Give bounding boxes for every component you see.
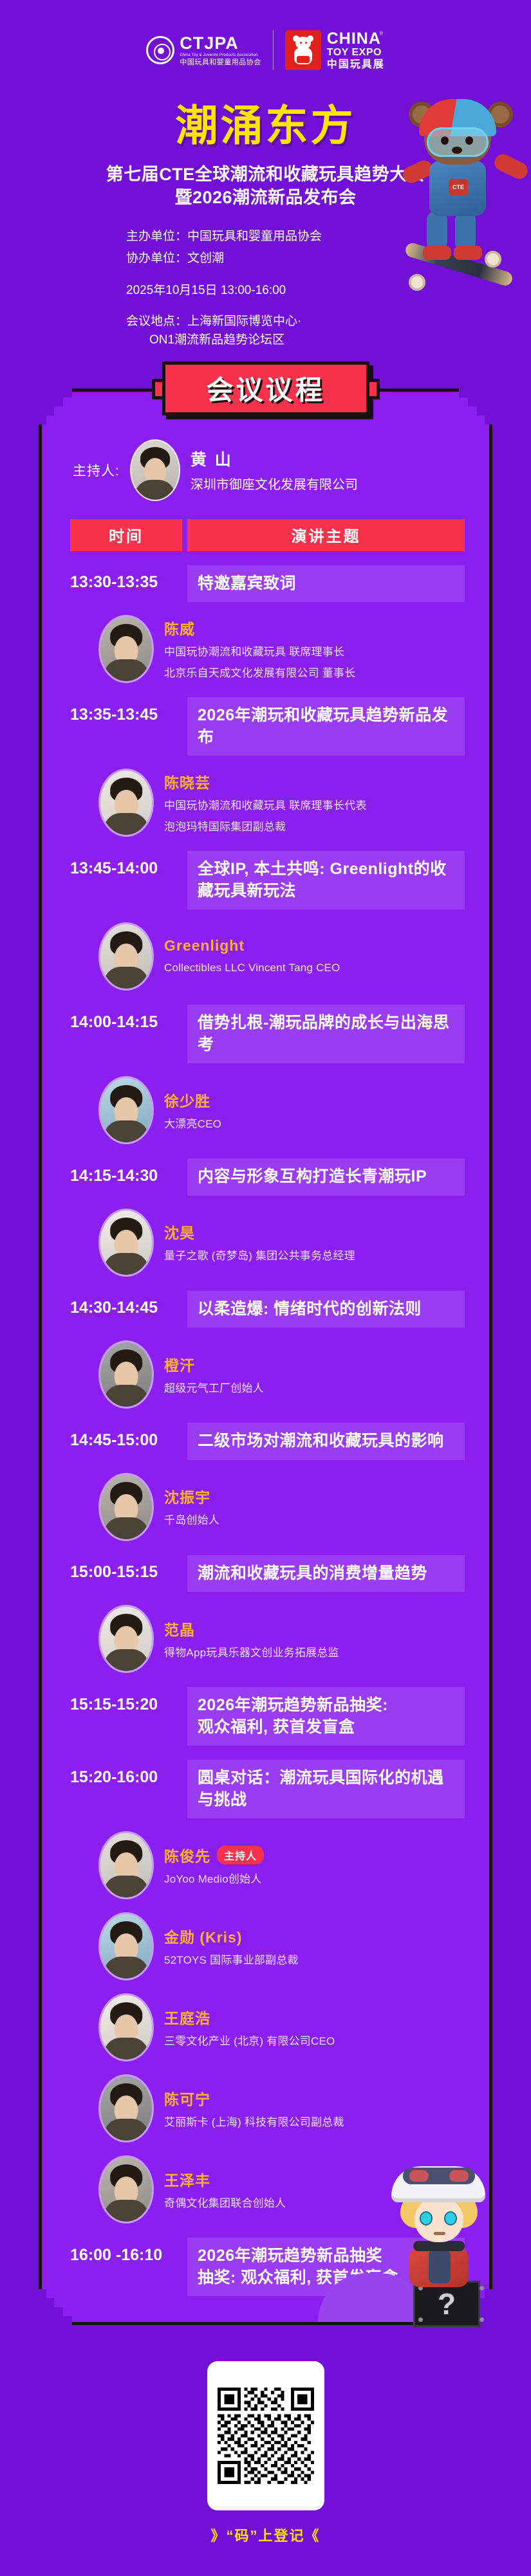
agenda-row-time: 14:45-15:00 xyxy=(70,1423,182,1457)
poster-subtitle: 第七届CTE全球潮流和收藏玩具趋势大会 暨2026潮流新品发布会 xyxy=(0,163,531,209)
registered-mark-icon: ® xyxy=(380,32,383,36)
speaker-name-text: 王泽丰 xyxy=(164,2168,210,2190)
agenda-row-topic: 2026年潮玩趋势新品抽奖抽奖: 观众福利, 获首发盲盒 xyxy=(187,2238,465,2296)
speaker-avatar xyxy=(98,1912,154,1980)
agenda-row-body: 二级市场对潮流和收藏玩具的影响 xyxy=(187,1423,465,1460)
agenda-row-time: 14:15-14:30 xyxy=(70,1158,182,1193)
speaker-avatar xyxy=(98,922,154,991)
agenda-row-topic: 借势扎根-潮玩品牌的成长与出海思考 xyxy=(187,1005,465,1063)
speaker-entry: 王泽丰奇偶文化集团联合创始人 xyxy=(70,2155,465,2224)
subtitle-line-2: 暨2026潮流新品发布会 xyxy=(0,187,531,210)
speaker-title: 北京乐自天成文化发展有限公司 董事长 xyxy=(164,665,355,682)
moderator-badge: 主持人 xyxy=(217,1845,264,1865)
agenda-title-badge: 会议议程 xyxy=(162,361,369,416)
agenda-row-body: 借势扎根-潮玩品牌的成长与出海思考 xyxy=(187,1005,465,1063)
ctjpa-logo: CTJPA China Toy & Juvenile Products Asso… xyxy=(146,35,261,66)
agenda-row-body: 以柔造爆: 情绪时代的创新法则 xyxy=(187,1291,465,1328)
speaker-entry: 范晶得物App玩具乐器文创业务拓展总监 xyxy=(70,1605,465,1673)
speaker-name: 陈晓芸 xyxy=(164,771,367,792)
speaker-name: 王庭浩 xyxy=(164,2006,335,2028)
speaker-name-text: 陈可宁 xyxy=(164,2087,210,2109)
speaker-name: 沈振宇 xyxy=(164,1485,219,1507)
agenda-row-body: 特邀嘉宾致词 xyxy=(187,565,465,603)
qr-caption: 》“码”上登记《 xyxy=(0,2525,531,2545)
speaker-entry: 陈晓芸中国玩协潮流和收藏玩具 联席理事长代表泡泡玛特国际集团副总裁 xyxy=(70,769,465,837)
speaker-info: 橙汗超级元气工厂创始人 xyxy=(164,1353,264,1397)
speaker-entry: GreenlightCollectibles LLC Vincent Tang … xyxy=(70,922,465,991)
agenda-row-topic: 二级市场对潮流和收藏玩具的影响 xyxy=(187,1423,465,1460)
ctjpa-english-name: China Toy & Juvenile Products Associatio… xyxy=(180,53,261,57)
speaker-avatar xyxy=(98,2074,154,2142)
host-label: 主持人: xyxy=(73,461,120,480)
speaker-title: 量子之歌 (奇梦岛) 集团公共事务总经理 xyxy=(164,1248,355,1265)
poster-header: CTJPA China Toy & Juvenile Products Asso… xyxy=(0,0,531,350)
speaker-name-text: Greenlight xyxy=(164,937,245,955)
speaker-name: 橙汗 xyxy=(164,1353,264,1375)
poster-footer: 》“码”上登记《 xyxy=(0,2325,531,2576)
speaker-title: 艾丽斯卡 (上海) 科技有限公司副总裁 xyxy=(164,2114,344,2131)
ctjpa-emblem-icon xyxy=(146,36,174,64)
speaker-entry: 沈昊量子之歌 (奇梦岛) 集团公共事务总经理 xyxy=(70,1209,465,1277)
logo-bar: CTJPA China Toy & Juvenile Products Asso… xyxy=(0,23,531,77)
qr-code-card[interactable] xyxy=(207,2361,324,2510)
ctjpa-chinese-name: 中国玩具和婴童用品协会 xyxy=(180,59,261,66)
agenda-row: 13:30-13:35特邀嘉宾致词 xyxy=(70,565,465,603)
agenda-row-body: 圆桌对话：潮流玩具国际化的机遇与挑战 xyxy=(187,1760,465,1818)
speaker-entry: 金勋 (Kris)52TOYS 国际事业部副总裁 xyxy=(70,1912,465,1980)
agenda-row: 14:45-15:00二级市场对潮流和收藏玩具的影响 xyxy=(70,1423,465,1460)
speaker-name-text: 沈昊 xyxy=(164,1221,195,1243)
column-header-time: 时间 xyxy=(70,519,182,551)
speaker-name-text: 沈振宇 xyxy=(164,1485,210,1507)
column-header-topic: 演讲主题 xyxy=(187,519,465,551)
speaker-info: 陈俊先主持人JoYoo Medio创始人 xyxy=(164,1844,264,1888)
speaker-name-text: 徐少胜 xyxy=(164,1089,210,1111)
speaker-avatar xyxy=(98,769,154,837)
speaker-name: 陈可宁 xyxy=(164,2087,344,2109)
speaker-info: 王庭浩三零文化产业 (北京) 有限公司CEO xyxy=(164,2006,335,2050)
co-organizer-line: 协办单位：文创潮 xyxy=(126,248,531,269)
poster-main-title: 潮涌东方 xyxy=(0,91,531,153)
agenda-row-topic: 潮流和收藏玩具的消费增量趋势 xyxy=(187,1555,465,1593)
qr-code-icon[interactable] xyxy=(218,2388,314,2484)
speaker-info: 沈昊量子之歌 (奇梦岛) 集团公共事务总经理 xyxy=(164,1221,355,1265)
speaker-name: 陈威 xyxy=(164,617,355,639)
badge-nub-right xyxy=(369,379,380,399)
subtitle-line-1: 第七届CTE全球潮流和收藏玩具趋势大会 xyxy=(0,163,531,187)
speaker-title: 三零文化产业 (北京) 有限公司CEO xyxy=(164,2033,335,2050)
agenda-row-body: 潮流和收藏玩具的消费增量趋势 xyxy=(187,1555,465,1593)
speaker-name-text: 陈威 xyxy=(164,617,195,639)
agenda-row-time: 13:45-14:00 xyxy=(70,851,182,886)
agenda-table-header: 时间 演讲主题 xyxy=(42,519,489,551)
agenda-row-time: 16:00 -16:10 xyxy=(70,2238,182,2272)
speaker-name: 沈昊 xyxy=(164,1221,355,1243)
agenda-host-row: 主持人: 黄 山 深圳市御座文化发展有限公司 xyxy=(42,439,489,501)
speaker-title: 千岛创始人 xyxy=(164,1512,219,1529)
speaker-name-text: 陈俊先 xyxy=(164,1844,210,1866)
speaker-name: 范晶 xyxy=(164,1618,339,1640)
agenda-row-time: 13:30-13:35 xyxy=(70,565,182,600)
agenda-row: 15:00-15:15潮流和收藏玩具的消费增量趋势 xyxy=(70,1555,465,1593)
speaker-avatar xyxy=(98,1076,154,1144)
speaker-avatar xyxy=(98,2155,154,2224)
agenda-row-body: 2026年潮玩和收藏玩具趋势新品发布 xyxy=(187,697,465,756)
agenda-row-time: 15:00-15:15 xyxy=(70,1555,182,1590)
speaker-name-text: 范晶 xyxy=(164,1618,195,1640)
speaker-title: Collectibles LLC Vincent Tang CEO xyxy=(164,960,340,976)
speaker-entry: 橙汗超级元气工厂创始人 xyxy=(70,1340,465,1409)
speaker-name: Greenlight xyxy=(164,937,340,955)
speaker-name: 王泽丰 xyxy=(164,2168,286,2190)
speaker-info: 范晶得物App玩具乐器文创业务拓展总监 xyxy=(164,1618,339,1661)
speaker-title: 大漂亮CEO xyxy=(164,1116,221,1133)
speaker-entry: 陈俊先主持人JoYoo Medio创始人 xyxy=(70,1831,465,1899)
speaker-title: 奇偶文化集团联合创始人 xyxy=(164,2195,286,2212)
agenda-row-topic: 内容与形象互构打造长青潮玩IP xyxy=(187,1158,465,1196)
speaker-avatar xyxy=(98,1473,154,1541)
speaker-info: GreenlightCollectibles LLC Vincent Tang … xyxy=(164,937,340,976)
badge-nub-left xyxy=(152,379,162,399)
agenda-panel: 主持人: 黄 山 深圳市御座文化发展有限公司 时间 演讲主题 13:30-13:… xyxy=(39,388,492,2326)
agenda-section: 会议议程 主持人: 黄 山 深圳市御座文化发展有限公司 时间 演讲主题 13:3 xyxy=(0,361,531,2326)
agenda-row-topic: 以柔造爆: 情绪时代的创新法则 xyxy=(187,1291,465,1328)
speaker-info: 陈晓芸中国玩协潮流和收藏玩具 联席理事长代表泡泡玛特国际集团副总裁 xyxy=(164,771,367,836)
cte-line1: CHINA xyxy=(327,30,385,47)
speaker-title: 52TOYS 国际事业部副总裁 xyxy=(164,1952,299,1969)
speaker-name-text: 陈晓芸 xyxy=(164,771,210,792)
cte-line3: 中国玩具展 xyxy=(327,60,385,71)
speaker-title: 泡泡玛特国际集团副总裁 xyxy=(164,819,367,836)
agenda-row-topic: 特邀嘉宾致词 xyxy=(187,565,465,603)
event-datetime: 2025年10月15日 13:00-16:00 xyxy=(126,280,531,301)
agenda-row: 15:20-16:00圆桌对话：潮流玩具国际化的机遇与挑战 xyxy=(70,1760,465,1818)
agenda-rows: 13:30-13:35特邀嘉宾致词陈威中国玩协潮流和收藏玩具 联席理事长北京乐自… xyxy=(42,565,489,2297)
china-toy-expo-logo: ® CHINA TOY EXPO 中国玩具展 xyxy=(285,30,385,71)
agenda-row: 14:30-14:45以柔造爆: 情绪时代的创新法则 xyxy=(70,1291,465,1328)
speaker-entry: 陈可宁艾丽斯卡 (上海) 科技有限公司副总裁 xyxy=(70,2074,465,2142)
ctjpa-abbr: CTJPA xyxy=(180,35,261,52)
speaker-entry: 徐少胜大漂亮CEO xyxy=(70,1076,465,1144)
speaker-entry: 王庭浩三零文化产业 (北京) 有限公司CEO xyxy=(70,1993,465,2061)
agenda-row-topic: 圆桌对话：潮流玩具国际化的机遇与挑战 xyxy=(187,1760,465,1818)
agenda-badge-label: 会议议程 xyxy=(206,369,324,408)
event-meta: 主办单位：中国玩具和婴童用品协会 协办单位：文创潮 2025年10月15日 13… xyxy=(0,226,531,301)
agenda-row-body: 全球IP, 本土共鸣: Greenlight的收藏玩具新玩法 xyxy=(187,851,465,909)
agenda-row: 14:00-14:15借势扎根-潮玩品牌的成长与出海思考 xyxy=(70,1005,465,1063)
speaker-info: 王泽丰奇偶文化集团联合创始人 xyxy=(164,2168,286,2212)
agenda-row-body: 内容与形象互构打造长青潮玩IP xyxy=(187,1158,465,1196)
speaker-info: 沈振宇千岛创始人 xyxy=(164,1485,219,1529)
speaker-avatar xyxy=(98,615,154,683)
speaker-title: 中国玩协潮流和收藏玩具 联席理事长 xyxy=(164,644,355,661)
speaker-info: 金勋 (Kris)52TOYS 国际事业部副总裁 xyxy=(164,1925,299,1969)
speaker-title: 中国玩协潮流和收藏玩具 联席理事长代表 xyxy=(164,798,367,814)
agenda-row-topic: 2026年潮玩和收藏玩具趋势新品发布 xyxy=(187,697,465,756)
speaker-avatar xyxy=(98,1993,154,2061)
host-avatar xyxy=(130,439,180,501)
agenda-row-body: 2026年潮玩趋势新品抽奖抽奖: 观众福利, 获首发盲盒 xyxy=(187,2238,465,2296)
speaker-name: 徐少胜 xyxy=(164,1089,221,1111)
speaker-info: 徐少胜大漂亮CEO xyxy=(164,1089,221,1133)
agenda-row-time: 15:15-15:20 xyxy=(70,1687,182,1722)
organizer-line: 主办单位：中国玩具和婴童用品协会 xyxy=(126,226,531,247)
host-organization: 深圳市御座文化发展有限公司 xyxy=(191,474,358,493)
speaker-info: 陈可宁艾丽斯卡 (上海) 科技有限公司副总裁 xyxy=(164,2087,344,2131)
speaker-name-text: 王庭浩 xyxy=(164,2006,210,2028)
speaker-name-text: 橙汗 xyxy=(164,1353,195,1375)
agenda-row-time: 13:35-13:45 xyxy=(70,697,182,732)
speaker-entry: 陈威中国玩协潮流和收藏玩具 联席理事长北京乐自天成文化发展有限公司 董事长 xyxy=(70,615,465,683)
agenda-row-time: 14:30-14:45 xyxy=(70,1291,182,1326)
speaker-title: 得物App玩具乐器文创业务拓展总监 xyxy=(164,1645,339,1661)
speaker-title: 超级元气工厂创始人 xyxy=(164,1380,264,1397)
agenda-row: 13:45-14:00全球IP, 本土共鸣: Greenlight的收藏玩具新玩… xyxy=(70,851,465,909)
agenda-row-topic: 2026年潮玩趋势新品抽奖:观众福利, 获首发盲盒 xyxy=(187,1687,465,1746)
speaker-name: 陈俊先主持人 xyxy=(164,1844,264,1866)
agenda-row-body: 2026年潮玩趋势新品抽奖:观众福利, 获首发盲盒 xyxy=(187,1687,465,1746)
agenda-row: 13:35-13:452026年潮玩和收藏玩具趋势新品发布 xyxy=(70,697,465,756)
speaker-name-text: 金勋 (Kris) xyxy=(164,1925,242,1947)
logo-divider xyxy=(273,30,274,70)
speaker-avatar xyxy=(98,1209,154,1277)
event-venue: 会议地点：上海新国际博览中心· ON1潮流新品趋势论坛区 xyxy=(0,312,531,350)
agenda-row-time: 14:00-14:15 xyxy=(70,1005,182,1039)
agenda-row-time: 15:20-16:00 xyxy=(70,1760,182,1795)
panda-bear-icon xyxy=(285,30,321,70)
speaker-entry: 沈振宇千岛创始人 xyxy=(70,1473,465,1541)
venue-line-2: ON1潮流新品趋势论坛区 xyxy=(126,331,531,349)
speaker-info: 陈威中国玩协潮流和收藏玩具 联席理事长北京乐自天成文化发展有限公司 董事长 xyxy=(164,617,355,682)
speaker-avatar xyxy=(98,1831,154,1899)
speaker-name: 金勋 (Kris) xyxy=(164,1925,299,1947)
agenda-row: 15:15-15:202026年潮玩趋势新品抽奖:观众福利, 获首发盲盒 xyxy=(70,1687,465,1746)
speaker-avatar xyxy=(98,1605,154,1673)
host-name: 黄 山 xyxy=(191,447,358,470)
venue-line-1: 会议地点：上海新国际博览中心· xyxy=(126,312,531,331)
agenda-row: 14:15-14:30内容与形象互构打造长青潮玩IP xyxy=(70,1158,465,1196)
speaker-title: JoYoo Medio创始人 xyxy=(164,1871,264,1888)
speaker-avatar xyxy=(98,1340,154,1409)
cte-line2: TOY EXPO xyxy=(327,48,385,59)
agenda-row-topic: 全球IP, 本土共鸣: Greenlight的收藏玩具新玩法 xyxy=(187,851,465,909)
